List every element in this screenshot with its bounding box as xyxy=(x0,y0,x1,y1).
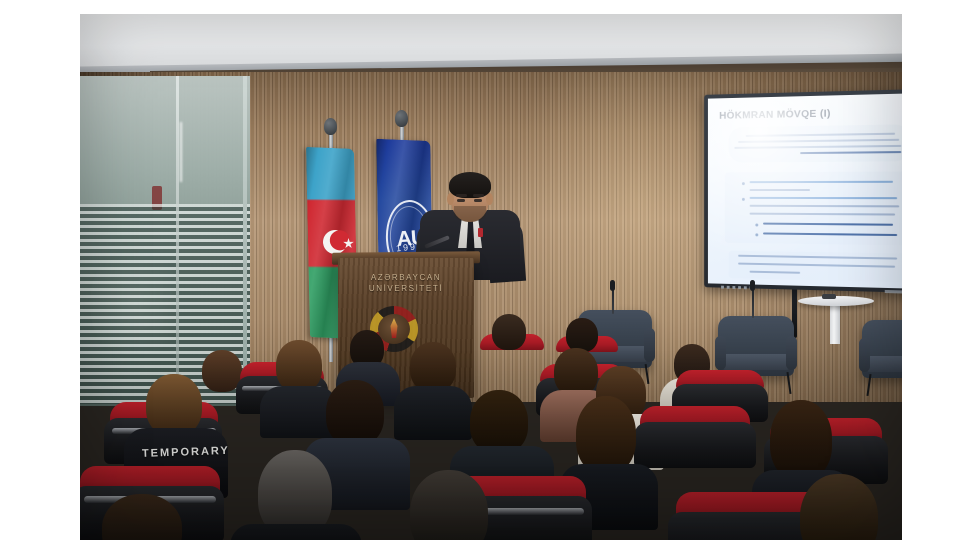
flagpole-finial-azerbaijan xyxy=(324,118,337,135)
armchair-arm-left xyxy=(715,336,726,370)
jacket-print-text: TEMPORARY xyxy=(142,444,252,464)
presentation-display: HÖKMRAN MÖVQE (I) xyxy=(704,89,902,293)
slide-title: HÖKMRAN MÖVQE (I) xyxy=(719,108,830,122)
audience-head-long-hair xyxy=(576,396,636,474)
audience-head xyxy=(554,348,598,396)
audience-head xyxy=(566,318,598,352)
screenshot-canvas: AU 1991 HÖKMRAN MÖVQE (I) xyxy=(0,0,975,540)
armchair-arm-right xyxy=(786,336,797,370)
speaker-lapel-pin xyxy=(478,228,483,237)
microphone-head-icon xyxy=(610,280,615,291)
side-table-stem xyxy=(830,302,840,344)
audience-seat-r3-2-body[interactable] xyxy=(634,422,756,468)
speaker-eye-left xyxy=(457,199,465,202)
armchair-seat xyxy=(722,354,790,370)
audience-head-curly xyxy=(146,374,202,436)
conference-photograph: AU 1991 HÖKMRAN MÖVQE (I) xyxy=(80,14,902,540)
audience-head xyxy=(470,390,528,454)
audience-head xyxy=(326,380,384,446)
stage-armchair-3[interactable] xyxy=(862,320,902,378)
speaker-brow-right xyxy=(473,194,484,197)
slide-intro-box xyxy=(729,124,902,162)
audience-torso xyxy=(230,524,362,540)
audience-head xyxy=(492,314,526,350)
side-table-object xyxy=(822,294,836,299)
stage-armchair-2[interactable] xyxy=(718,316,794,376)
speaker-ear-right xyxy=(486,193,493,205)
armchair-arm-right xyxy=(644,328,655,362)
podium-label-line1: AZƏRBAYCAN xyxy=(338,272,474,283)
glass-frame-post xyxy=(243,76,247,406)
speaker-beard xyxy=(454,206,486,222)
armchair-arm-left xyxy=(859,338,870,372)
audience-torso xyxy=(394,386,472,440)
audience-head xyxy=(410,342,456,392)
audience-head-long-hair xyxy=(276,340,322,392)
podium-label: AZƏRBAYCAN UNİVERSİTETİ xyxy=(338,272,474,294)
gooseneck-microphone-2[interactable] xyxy=(752,288,754,318)
side-table xyxy=(798,296,874,306)
armchair-seat xyxy=(866,356,902,372)
glass-highlight xyxy=(180,122,182,182)
speaker-brow-left xyxy=(456,194,467,197)
podium-label-line2: UNİVERSİTETİ xyxy=(338,283,474,294)
microphone-head-icon xyxy=(750,280,755,291)
glass-mullion xyxy=(176,76,179,406)
speaker-eye-right xyxy=(474,199,482,202)
audience-head-long-hair xyxy=(770,400,832,480)
flagpole-finial-university xyxy=(395,110,408,127)
slide-surface: HÖKMRAN MÖVQE (I) xyxy=(708,93,902,289)
